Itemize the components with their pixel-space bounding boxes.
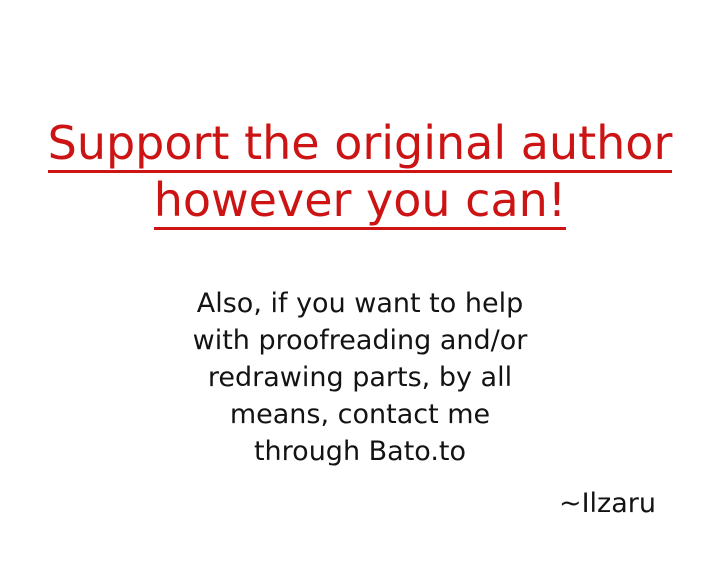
body-message: Also, if you want to help with proofread… [0,285,720,470]
headline-line-1-text: Support the original author [48,118,673,173]
body-line-5: through Bato.to [0,433,720,470]
scanlation-credits-page: Support the original author however you … [0,0,720,562]
headline-line-2-text: however you can! [154,175,567,230]
signature: ~Ilzaru [0,488,720,520]
headline-message: Support the original author however you … [0,118,720,230]
body-line-2: with proofreading and/or [0,322,720,359]
body-line-4: means, contact me [0,396,720,433]
body-line-1: Also, if you want to help [0,285,720,322]
headline-line-2: however you can! [0,175,720,230]
headline-line-1: Support the original author [0,118,720,173]
body-line-3: redrawing parts, by all [0,359,720,396]
